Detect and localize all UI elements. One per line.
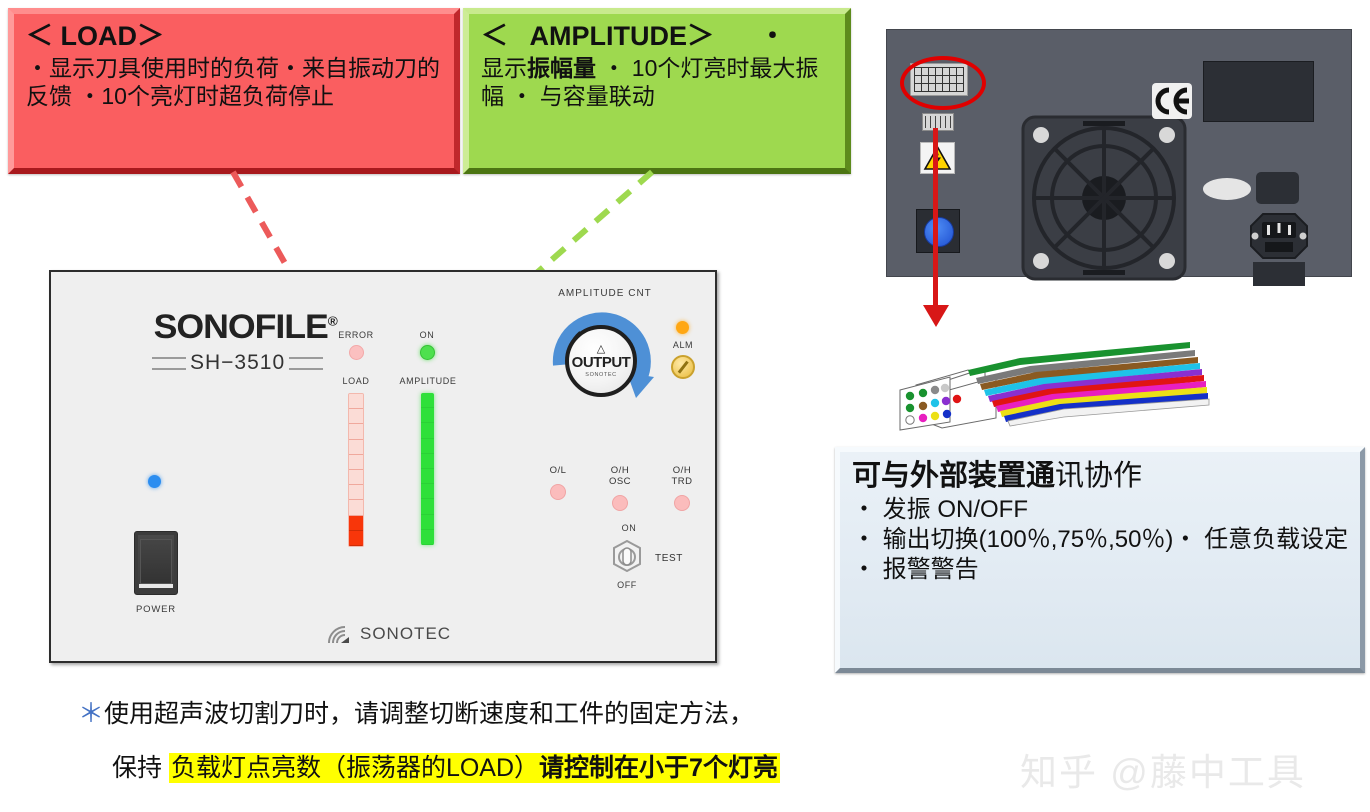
load-bar-segment bbox=[349, 424, 363, 439]
note-line-2: 保持 负载灯点亮数（振荡器的LOAD）请控制在小于7个灯亮 bbox=[112, 748, 780, 784]
cable-harness-illustration bbox=[890, 330, 1210, 435]
amplitude-bar-segment bbox=[421, 469, 434, 484]
on-indicator-label: ON bbox=[407, 330, 447, 340]
fault-label-line2: TRD bbox=[660, 477, 704, 488]
info-heading-bold: 可与外部装置通 bbox=[852, 460, 1055, 492]
amplitude-callout-box: ＜ AMPLITUDE＞ ・ 显示振幅量 ・ 10个灯亮时最大振幅 ・ 与容量联… bbox=[463, 8, 851, 174]
note-line-1: ＊使用超声波切割刀时，请调整切断速度和工件的固定方法， bbox=[78, 693, 754, 730]
ce-mark-label bbox=[1152, 83, 1192, 119]
alarm-adjust-screw[interactable] bbox=[671, 355, 695, 379]
amplitude-bar-segment bbox=[421, 393, 434, 408]
load-bar-segment bbox=[349, 516, 363, 531]
registered-trademark-icon: ® bbox=[328, 314, 337, 329]
load-callout-body: ・显示刀具使用时的负荷・来自振动刀的反馈 ・10个亮灯时超负荷停止 bbox=[26, 54, 444, 110]
amplitude-bar-segment bbox=[421, 499, 434, 514]
fault-indicator-oh-osc: O/H OSC bbox=[598, 466, 642, 511]
rear-black-block-top bbox=[1256, 172, 1299, 204]
error-indicator-label: ERROR bbox=[336, 330, 376, 340]
amplitude-bar-segment bbox=[421, 423, 434, 438]
note-highlight-b: 请控制在小于7个灯亮 bbox=[539, 754, 778, 782]
load-callout-title: ＜ LOAD＞ bbox=[26, 20, 444, 53]
note-line-1-text: 使用超声波切割刀时，请调整切断速度和工件的固定方法， bbox=[104, 700, 754, 728]
model-number: SH−3510 bbox=[190, 351, 285, 375]
note-highlight: 负载灯点亮数（振荡器的LOAD）请控制在小于7个灯亮 bbox=[169, 753, 780, 783]
asterisk-marker: ＊ bbox=[78, 698, 104, 728]
small-connector-port bbox=[922, 113, 954, 131]
output-knob-assembly[interactable]: △ OUTPUT SONOTEC bbox=[548, 303, 663, 413]
on-led-icon bbox=[420, 345, 435, 360]
info-heading-light: 讯协作 bbox=[1055, 460, 1142, 492]
rear-black-block-bottom bbox=[1253, 262, 1305, 286]
error-led-icon bbox=[349, 345, 364, 360]
info-box-heading: 可与外部装置通讯协作 bbox=[852, 458, 1350, 494]
info-list-item: ・ 报警警告 bbox=[852, 555, 1350, 585]
load-bar-meter bbox=[348, 393, 364, 547]
iec-power-inlet bbox=[1249, 212, 1309, 260]
fault-label-line1: O/L bbox=[536, 466, 580, 477]
amplitude-bar-segment bbox=[421, 408, 434, 423]
toggle-test-label: TEST bbox=[655, 553, 683, 564]
amplitude-bar-segment bbox=[421, 439, 434, 454]
knob-triangle-icon: △ bbox=[597, 345, 605, 354]
amplitude-bar-segment bbox=[421, 515, 434, 530]
fault-indicator-oh-trd: O/H TRD bbox=[660, 466, 704, 511]
output-knob[interactable]: △ OUTPUT SONOTEC bbox=[565, 325, 637, 397]
load-bar-segment bbox=[349, 409, 363, 424]
sonotec-footer-text: SONOTEC bbox=[360, 624, 451, 644]
load-bar-segment bbox=[349, 455, 363, 470]
model-number-row: SH−3510 bbox=[152, 352, 342, 374]
sonotec-wave-icon bbox=[326, 624, 354, 644]
alarm-led-icon bbox=[676, 321, 689, 334]
watermark: 知乎 @藤中工具 bbox=[1020, 742, 1306, 796]
small-connector-grid-icon bbox=[925, 116, 951, 128]
sonofile-brand-logo: SONOFILE® bbox=[154, 308, 337, 347]
fault-led-icon bbox=[612, 495, 628, 511]
load-bar-segment bbox=[349, 394, 363, 409]
test-toggle-switch[interactable] bbox=[611, 540, 643, 572]
ce-mark-icon bbox=[1152, 83, 1192, 119]
info-list-item: ・ 输出切换(100％,75％,50％)・ 任意负载设定 bbox=[852, 525, 1350, 555]
fault-led-icon bbox=[550, 484, 566, 500]
cooling-fan-grille bbox=[1021, 115, 1187, 281]
alarm-label: ALM bbox=[664, 340, 702, 350]
note-line-2-prefix: 保持 bbox=[112, 754, 169, 782]
load-bar-segment bbox=[349, 470, 363, 485]
amplitude-bar-segment bbox=[421, 454, 434, 469]
amplitude-callout-title: ＜ AMPLITUDE＞ ・ bbox=[481, 20, 835, 53]
load-callout-box: ＜ LOAD＞ ・显示刀具使用时的负荷・来自振动刀的反馈 ・10个亮灯时超负荷停… bbox=[8, 8, 460, 174]
blue-led-icon bbox=[148, 475, 161, 488]
callout-arrow-shaft bbox=[933, 128, 938, 313]
connector-ring-icon bbox=[924, 217, 954, 247]
model-rule-right bbox=[289, 357, 323, 370]
load-bar-segment bbox=[349, 531, 363, 546]
external-communication-info-box: 可与外部装置通讯协作 ・ 发振 ON/OFF ・ 输出切换(100％,75％,5… bbox=[835, 447, 1365, 673]
power-switch-label: POWER bbox=[130, 604, 182, 615]
load-bar-segment bbox=[349, 485, 363, 500]
fault-label-line2: OSC bbox=[598, 477, 642, 488]
load-bar-segment bbox=[349, 500, 363, 515]
blue-circular-connector bbox=[916, 209, 960, 253]
sonofile-brand-text: SONOFILE bbox=[154, 308, 328, 346]
amplitude-bar-segment bbox=[421, 484, 434, 499]
amplitude-callout-body: 显示振幅量 ・ 10个灯亮时最大振幅 ・ 与容量联动 bbox=[481, 54, 835, 110]
fault-led-icon bbox=[674, 495, 690, 511]
screw-slot-icon bbox=[678, 361, 689, 374]
power-switch[interactable] bbox=[134, 531, 178, 595]
model-rule-left bbox=[152, 357, 186, 370]
knob-label: OUTPUT bbox=[572, 354, 631, 371]
knob-sub-brand: SONOTEC bbox=[585, 372, 616, 378]
note-highlight-a: 负载灯点亮数（振荡器的LOAD） bbox=[171, 754, 539, 782]
rear-oval-decal bbox=[1203, 178, 1251, 200]
amplitude-meter-label: AMPLITUDE bbox=[393, 376, 463, 386]
load-bar-segment bbox=[349, 440, 363, 455]
fault-indicator-ol: O/L bbox=[536, 466, 580, 500]
sonotec-footer-logo: SONOTEC bbox=[326, 624, 451, 644]
load-meter-label: LOAD bbox=[336, 376, 376, 386]
amplitude-bar-segment bbox=[421, 530, 434, 545]
highlight-ellipse bbox=[900, 56, 986, 110]
info-list-item: ・ 发振 ON/OFF bbox=[852, 495, 1350, 525]
callout-arrow-head bbox=[923, 305, 949, 327]
amplitude-cnt-label: AMPLITUDE CNT bbox=[545, 288, 665, 299]
power-switch-lip bbox=[139, 584, 173, 588]
amplitude-bar-meter bbox=[421, 393, 434, 545]
amplitude-body-bold: 振幅量 bbox=[527, 55, 596, 81]
toggle-on-label: ON bbox=[609, 523, 649, 533]
power-switch-rocker[interactable] bbox=[140, 539, 172, 584]
rear-name-plate bbox=[1203, 61, 1314, 122]
amplitude-body-pre: 显示 bbox=[481, 55, 527, 81]
toggle-off-label: OFF bbox=[607, 580, 647, 590]
